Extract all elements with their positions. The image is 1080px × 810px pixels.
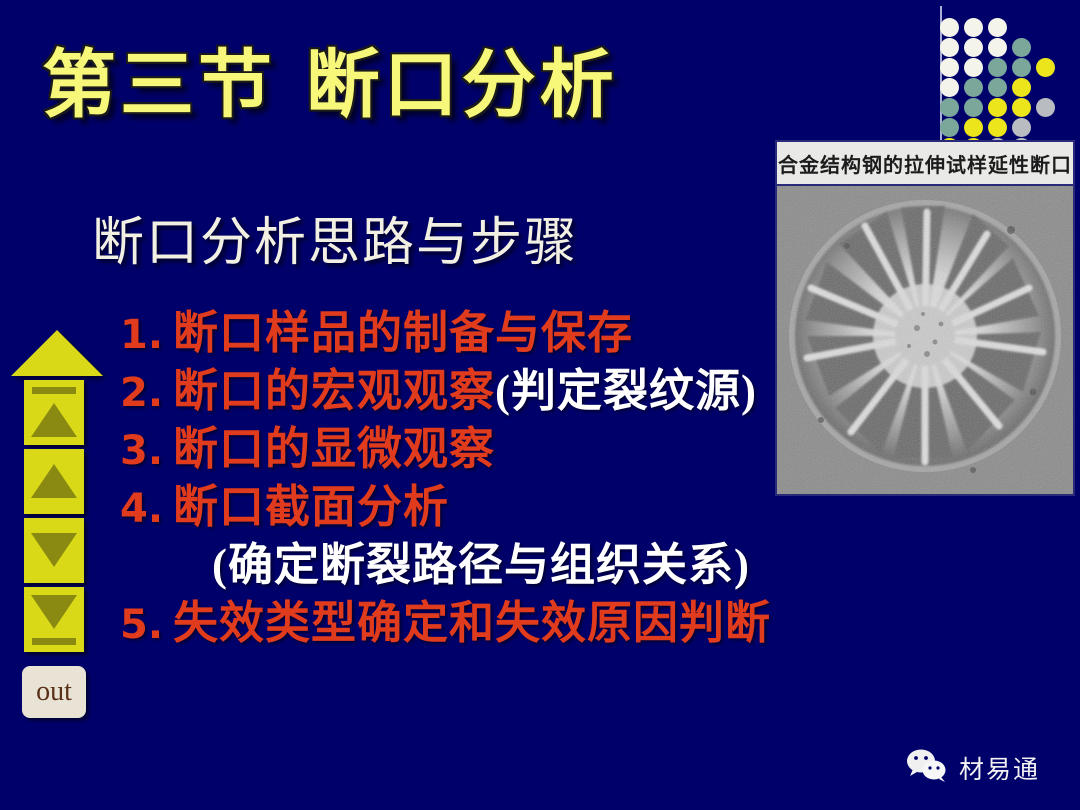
- step-text-note: (判定裂纹源): [495, 354, 757, 419]
- dot-yellow: [964, 118, 983, 137]
- triangle-up-icon: [31, 464, 77, 498]
- step-item: (确定断裂路径与组织关系): [120, 528, 820, 586]
- dot-white: [940, 38, 959, 57]
- dot-teal: [940, 118, 959, 137]
- dot-teal: [964, 98, 983, 117]
- dot-teal: [964, 78, 983, 97]
- last-slide-button[interactable]: [24, 587, 84, 652]
- dot-teal: [1012, 58, 1031, 77]
- step-number: 4.: [120, 486, 163, 532]
- dot-white: [964, 58, 983, 77]
- dot-yellow: [988, 98, 1007, 117]
- bar-glyph: [32, 638, 76, 645]
- fracture-photo-panel: 合金结构钢的拉伸试样延性断口: [775, 140, 1075, 496]
- dot-yellow: [1012, 78, 1031, 97]
- dot-row: [940, 58, 1060, 78]
- dot-matrix-decoration: [940, 0, 1080, 150]
- dot-yellow: [1036, 58, 1055, 77]
- step-item: 4.断口截面分析: [120, 470, 820, 528]
- bar-glyph: [32, 387, 76, 394]
- step-text-primary: 断口的宏观观察: [173, 354, 495, 419]
- dot-white: [964, 18, 983, 37]
- triangle-up-icon: [31, 403, 77, 437]
- step-number: 5.: [120, 602, 163, 648]
- dot-teal: [988, 78, 1007, 97]
- photo-caption: 合金结构钢的拉伸试样延性断口: [777, 142, 1073, 186]
- first-slide-button[interactable]: [24, 380, 84, 445]
- triangle-down-icon: [31, 595, 77, 629]
- step-item: 2.断口的宏观观察(判定裂纹源): [120, 354, 820, 412]
- dot-yellow: [988, 118, 1007, 137]
- step-item: 1.断口样品的制备与保存: [120, 296, 820, 354]
- dot-gray: [1012, 118, 1031, 137]
- fracture-photo-graphic: [777, 186, 1073, 494]
- dot-white: [940, 78, 959, 97]
- dot-white: [988, 18, 1007, 37]
- dot-teal: [940, 98, 959, 117]
- dot-white: [940, 58, 959, 77]
- watermark-label: 材易通: [959, 750, 1040, 786]
- next-slide-button[interactable]: [24, 518, 84, 583]
- dot-row: [940, 18, 1012, 38]
- dot-teal: [1012, 38, 1031, 57]
- wechat-icon: [905, 748, 949, 787]
- dot-yellow: [1012, 98, 1031, 117]
- step-text-primary: 断口的显微观察: [173, 412, 495, 477]
- step-text-primary: 失效类型确定和失效原因判断: [173, 586, 771, 651]
- fracture-surface-photo: [777, 186, 1073, 494]
- step-number: 1.: [120, 312, 163, 358]
- triangle-down-icon: [31, 533, 77, 567]
- out-button[interactable]: out: [22, 666, 86, 718]
- step-list: 1.断口样品的制备与保存2.断口的宏观观察(判定裂纹源)3.断口的显微观察4.断…: [120, 296, 820, 644]
- dot-white: [964, 38, 983, 57]
- dot-row: [940, 38, 1036, 58]
- step-number: 3.: [120, 428, 163, 474]
- previous-slide-button[interactable]: [24, 449, 84, 514]
- step-text-primary: 断口样品的制备与保存: [173, 296, 633, 361]
- step-text-primary: 断口截面分析: [173, 470, 449, 535]
- slide-navigation-strip: out: [14, 330, 100, 718]
- dot-white: [940, 18, 959, 37]
- step-text-note: (确定断裂路径与组织关系): [212, 528, 750, 593]
- step-item: 5.失效类型确定和失效原因判断: [120, 586, 820, 644]
- dot-row: [940, 98, 1060, 118]
- step-item: 3.断口的显微观察: [120, 412, 820, 470]
- page-title: 第三节 断口分析: [42, 48, 618, 123]
- step-number: 2.: [120, 370, 163, 416]
- dot-row: [940, 78, 1036, 98]
- slide-subtitle: 断口分析思路与步骤: [92, 200, 578, 275]
- presentation-slide: 第三节 断口分析 断口分析思路与步骤 1.断口样品的制备与保存2.断口的宏观观察…: [0, 0, 1080, 810]
- dot-row: [940, 118, 1036, 138]
- triangle-up-icon[interactable]: [11, 330, 103, 376]
- watermark: 材易通: [905, 748, 1040, 787]
- dot-white: [988, 38, 1007, 57]
- dot-teal: [988, 58, 1007, 77]
- dot-gray: [1036, 98, 1055, 117]
